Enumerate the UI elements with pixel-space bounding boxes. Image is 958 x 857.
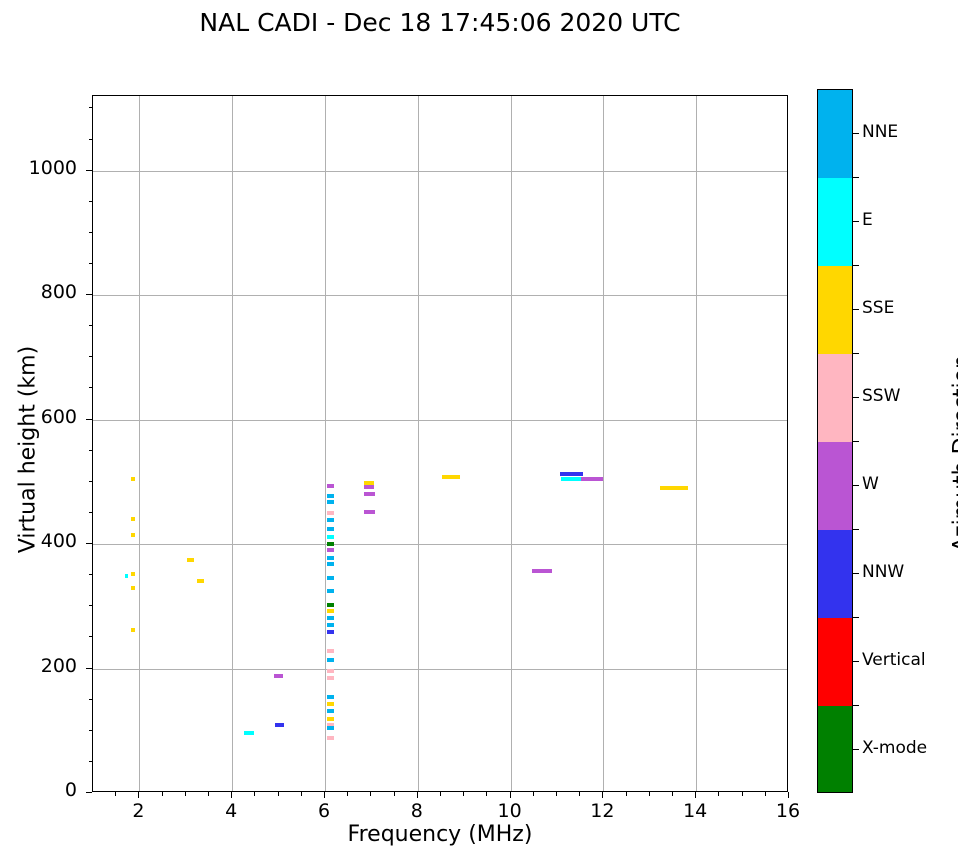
y-axis-minor-tick xyxy=(89,730,93,731)
y-axis-minor-tick xyxy=(89,139,93,140)
colorbar-tick xyxy=(853,661,859,662)
x-axis-tick xyxy=(324,792,325,798)
y-axis-tick xyxy=(86,419,92,420)
y-axis-tick-label: 600 xyxy=(0,406,77,428)
data-point-nne xyxy=(327,589,335,593)
data-point-ssw xyxy=(327,669,335,673)
y-axis-tick xyxy=(86,543,92,544)
data-point-nne xyxy=(327,709,335,713)
y-axis-tick xyxy=(86,294,92,295)
x-axis-minor-tick xyxy=(278,792,279,796)
colorbar-boundary-tick xyxy=(853,265,859,266)
data-point-nnw xyxy=(327,630,335,634)
x-axis-minor-tick xyxy=(626,792,627,796)
y-axis-tick-label: 800 xyxy=(0,281,77,303)
y-axis-tick xyxy=(86,792,92,793)
data-point-w xyxy=(364,485,373,489)
x-axis-minor-tick xyxy=(556,792,557,796)
y-axis-minor-tick xyxy=(89,512,93,513)
y-axis-minor-tick xyxy=(89,107,93,108)
x-axis-tick xyxy=(231,792,232,798)
y-axis-minor-tick xyxy=(89,699,93,700)
colorbar-label-w: W xyxy=(862,474,879,494)
y-axis-tick-label: 1000 xyxy=(0,157,77,179)
colorbar-segment-e[interactable] xyxy=(818,178,852,266)
x-axis-minor-tick xyxy=(115,792,116,796)
data-point-sse xyxy=(327,609,335,613)
data-point-nne xyxy=(327,616,335,620)
y-axis-tick-label: 200 xyxy=(0,655,77,677)
data-point-nne xyxy=(327,623,335,627)
x-axis-tick-label: 12 xyxy=(572,800,632,822)
x-axis-tick xyxy=(510,792,511,798)
x-axis-tick xyxy=(602,792,603,798)
y-axis-minor-tick xyxy=(89,636,93,637)
gridline-horizontal xyxy=(93,171,787,172)
data-point-w xyxy=(581,477,603,481)
data-point-ssw xyxy=(327,511,335,515)
colorbar-tick xyxy=(853,397,859,398)
data-point-sse xyxy=(660,486,688,490)
x-axis-minor-tick xyxy=(394,792,395,796)
data-point-e xyxy=(244,731,254,735)
colorbar-label-x-mode: X-mode xyxy=(862,738,927,758)
y-axis-minor-tick xyxy=(89,387,93,388)
data-point-sse xyxy=(131,477,136,481)
colorbar-label-nnw: NNW xyxy=(862,562,904,582)
x-axis-minor-tick xyxy=(533,792,534,796)
plot-area xyxy=(92,95,788,792)
colorbar-tick xyxy=(853,749,859,750)
x-axis-tick xyxy=(138,792,139,798)
data-point-w xyxy=(327,484,335,488)
data-point-nnw xyxy=(275,723,284,727)
colorbar-segment-x-mode[interactable] xyxy=(818,706,852,793)
data-point-sse xyxy=(442,475,460,479)
x-axis-minor-tick xyxy=(254,792,255,796)
colorbar-label-ssw: SSW xyxy=(862,386,900,406)
x-axis-minor-tick xyxy=(440,792,441,796)
gridline-horizontal xyxy=(93,544,787,545)
data-point-ssw xyxy=(327,736,335,740)
page-title: NAL CADI - Dec 18 17:45:06 2020 UTC xyxy=(0,8,880,37)
y-axis-minor-tick xyxy=(89,356,93,357)
gridline-horizontal xyxy=(93,295,787,296)
x-axis-tick-label: 10 xyxy=(480,800,540,822)
data-point-e xyxy=(125,574,128,578)
colorbar-boundary-tick xyxy=(853,441,859,442)
data-point-w xyxy=(364,510,374,514)
x-axis-minor-tick xyxy=(765,792,766,796)
data-point-ssw xyxy=(327,649,335,653)
x-axis-label: Frequency (MHz) xyxy=(92,822,788,847)
x-axis-minor-tick xyxy=(208,792,209,796)
data-point-sse xyxy=(131,533,136,537)
data-point-nne xyxy=(327,500,335,504)
y-axis-minor-tick xyxy=(89,263,93,264)
colorbar-segment-vertical[interactable] xyxy=(818,618,852,706)
x-axis-tick-label: 14 xyxy=(665,800,725,822)
data-point-nne xyxy=(327,576,335,580)
data-point-sse xyxy=(131,628,136,632)
x-axis-minor-tick xyxy=(742,792,743,796)
gridline-vertical xyxy=(139,96,140,791)
y-axis-minor-tick xyxy=(89,450,93,451)
y-axis-minor-tick xyxy=(89,574,93,575)
y-axis-tick-label: 400 xyxy=(0,530,77,552)
gridline-vertical xyxy=(603,96,604,791)
colorbar-boundary-tick xyxy=(853,177,859,178)
y-axis-minor-tick xyxy=(89,201,93,202)
colorbar-segment-nnw[interactable] xyxy=(818,530,852,618)
y-axis-tick-label: 0 xyxy=(0,779,77,801)
colorbar-tick xyxy=(853,221,859,222)
x-axis-minor-tick xyxy=(347,792,348,796)
y-axis-minor-tick xyxy=(89,605,93,606)
data-point-e xyxy=(327,535,335,539)
data-point-w xyxy=(274,674,282,678)
gridline-horizontal xyxy=(93,669,787,670)
colorbar-boundary-tick xyxy=(853,529,859,530)
data-point-nne xyxy=(327,695,335,699)
data-point-sse xyxy=(187,558,193,562)
x-axis-tick xyxy=(695,792,696,798)
x-axis-minor-tick xyxy=(463,792,464,796)
data-point-sse xyxy=(131,517,136,521)
ionogram-figure: NAL CADI - Dec 18 17:45:06 2020 UTC Freq… xyxy=(0,0,958,857)
x-axis-minor-tick xyxy=(162,792,163,796)
colorbar-boundary-tick xyxy=(853,353,859,354)
data-point-nne xyxy=(327,518,335,522)
x-axis-tick-label: 6 xyxy=(294,800,354,822)
data-point-x-mode xyxy=(327,542,335,546)
colorbar-label-vertical: Vertical xyxy=(862,650,926,670)
x-axis-minor-tick xyxy=(579,792,580,796)
y-axis-label: Virtual height (km) xyxy=(16,285,41,615)
data-point-nne xyxy=(327,726,335,730)
data-point-w xyxy=(327,548,335,552)
x-axis-minor-tick xyxy=(185,792,186,796)
x-axis-minor-tick xyxy=(718,792,719,796)
data-point-w xyxy=(532,569,551,573)
colorbar[interactable] xyxy=(817,89,853,793)
gridline-horizontal xyxy=(93,420,787,421)
data-point-sse xyxy=(131,572,134,576)
colorbar-tick xyxy=(853,309,859,310)
x-axis-tick-label: 16 xyxy=(758,800,818,822)
colorbar-label-sse: SSE xyxy=(862,298,894,318)
data-point-nne xyxy=(327,556,335,560)
colorbar-boundary-tick xyxy=(853,617,859,618)
data-point-nne xyxy=(327,562,335,566)
x-axis-tick-label: 4 xyxy=(201,800,261,822)
y-axis-minor-tick xyxy=(89,325,93,326)
data-point-x-mode xyxy=(327,603,335,607)
data-point-nne xyxy=(327,494,335,498)
y-axis-minor-tick xyxy=(89,232,93,233)
data-point-nne xyxy=(327,658,335,662)
colorbar-segment-ssw[interactable] xyxy=(818,354,852,442)
colorbar-boundary-tick xyxy=(853,705,859,706)
x-axis-tick xyxy=(417,792,418,798)
colorbar-segment-nne[interactable] xyxy=(818,90,852,178)
x-axis-minor-tick xyxy=(486,792,487,796)
colorbar-label-e: E xyxy=(862,210,873,230)
gridline-vertical xyxy=(696,96,697,791)
gridline-vertical xyxy=(511,96,512,791)
colorbar-segment-sse[interactable] xyxy=(818,266,852,354)
x-axis-minor-tick xyxy=(672,792,673,796)
y-axis-minor-tick xyxy=(89,481,93,482)
x-axis-minor-tick xyxy=(649,792,650,796)
data-point-w xyxy=(364,492,374,496)
data-point-sse xyxy=(327,717,335,721)
colorbar-label: Azimuth Direction xyxy=(950,289,958,619)
x-axis-minor-tick xyxy=(301,792,302,796)
colorbar-tick xyxy=(853,133,859,134)
data-point-ssw xyxy=(327,676,335,680)
x-axis-tick xyxy=(788,792,789,798)
colorbar-tick xyxy=(853,573,859,574)
colorbar-tick xyxy=(853,485,859,486)
data-point-nne xyxy=(327,527,335,531)
data-point-sse xyxy=(327,702,335,706)
data-point-sse xyxy=(197,579,204,583)
gridline-vertical xyxy=(232,96,233,791)
colorbar-label-nne: NNE xyxy=(862,122,898,142)
colorbar-segment-w[interactable] xyxy=(818,442,852,530)
x-axis-minor-tick xyxy=(370,792,371,796)
y-axis-tick xyxy=(86,668,92,669)
x-axis-tick-label: 8 xyxy=(387,800,447,822)
y-axis-tick xyxy=(86,170,92,171)
y-axis-minor-tick xyxy=(89,761,93,762)
gridline-vertical xyxy=(418,96,419,791)
data-point-sse xyxy=(131,586,136,590)
x-axis-tick-label: 2 xyxy=(108,800,168,822)
gridline-vertical xyxy=(325,96,326,791)
